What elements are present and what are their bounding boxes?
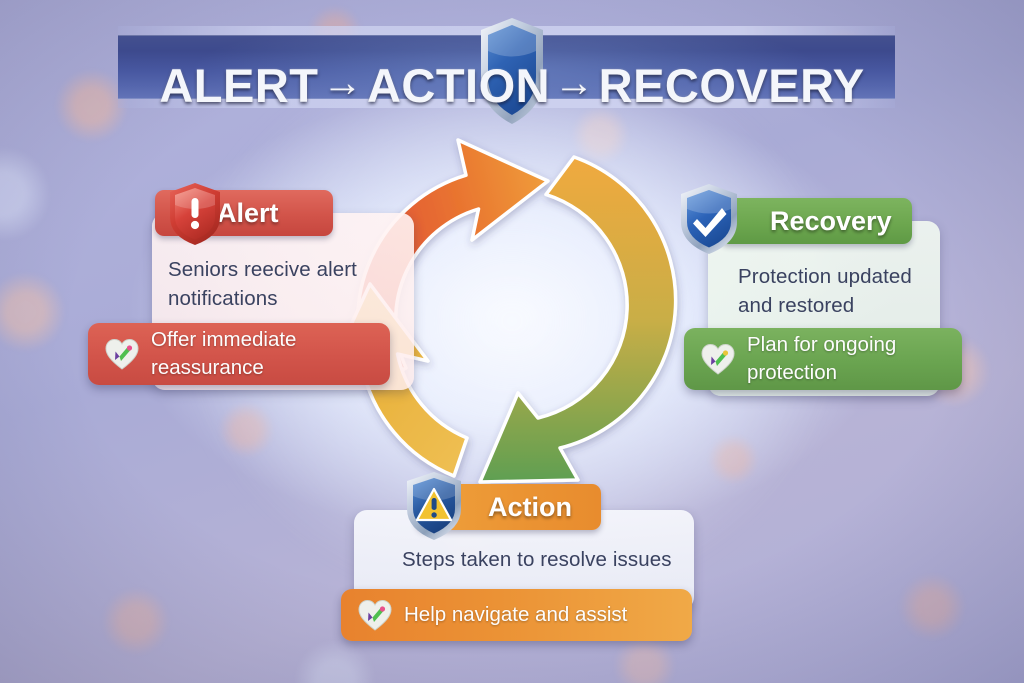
action-description: Steps taken to resolve issues — [402, 545, 702, 574]
title-action: ACTION — [367, 58, 550, 113]
arrow-icon-1: → — [318, 61, 367, 106]
arrow-icon-2: → — [550, 61, 599, 106]
title-recovery: RECOVERY — [599, 58, 865, 113]
action-pill-label: Help navigate and assist — [404, 601, 627, 629]
recovery-description: Protection updated and restored — [738, 262, 938, 320]
title-alert: ALERT — [159, 58, 318, 113]
heart-check-icon — [104, 337, 140, 371]
alert-description: Seniors reecive alert notifications — [168, 255, 388, 313]
heart-check-icon — [357, 598, 393, 632]
alert-title: Alert — [217, 198, 279, 229]
action-action-pill[interactable]: Help navigate and assist — [341, 589, 692, 641]
blue-shield-check-icon — [678, 182, 740, 256]
recovery-pill-label: Plan for ongoing protection — [747, 331, 946, 388]
recovery-action-pill[interactable]: Plan for ongoing protection — [684, 328, 962, 390]
recovery-title: Recovery — [770, 206, 892, 237]
alert-action-pill[interactable]: Offer immediate reassurance — [88, 323, 390, 385]
blue-shield-warning-icon — [404, 470, 464, 542]
red-shield-exclamation-icon — [167, 181, 223, 247]
page-title: ALERT → ACTION → RECOVERY — [0, 52, 1024, 118]
alert-pill-label: Offer immediate reassurance — [151, 326, 374, 383]
title-banner: ALERT → ACTION → RECOVERY — [0, 26, 1024, 108]
heart-check-icon — [700, 342, 736, 376]
action-title: Action — [488, 492, 572, 523]
recovery-header-bar[interactable]: Recovery — [720, 198, 912, 244]
